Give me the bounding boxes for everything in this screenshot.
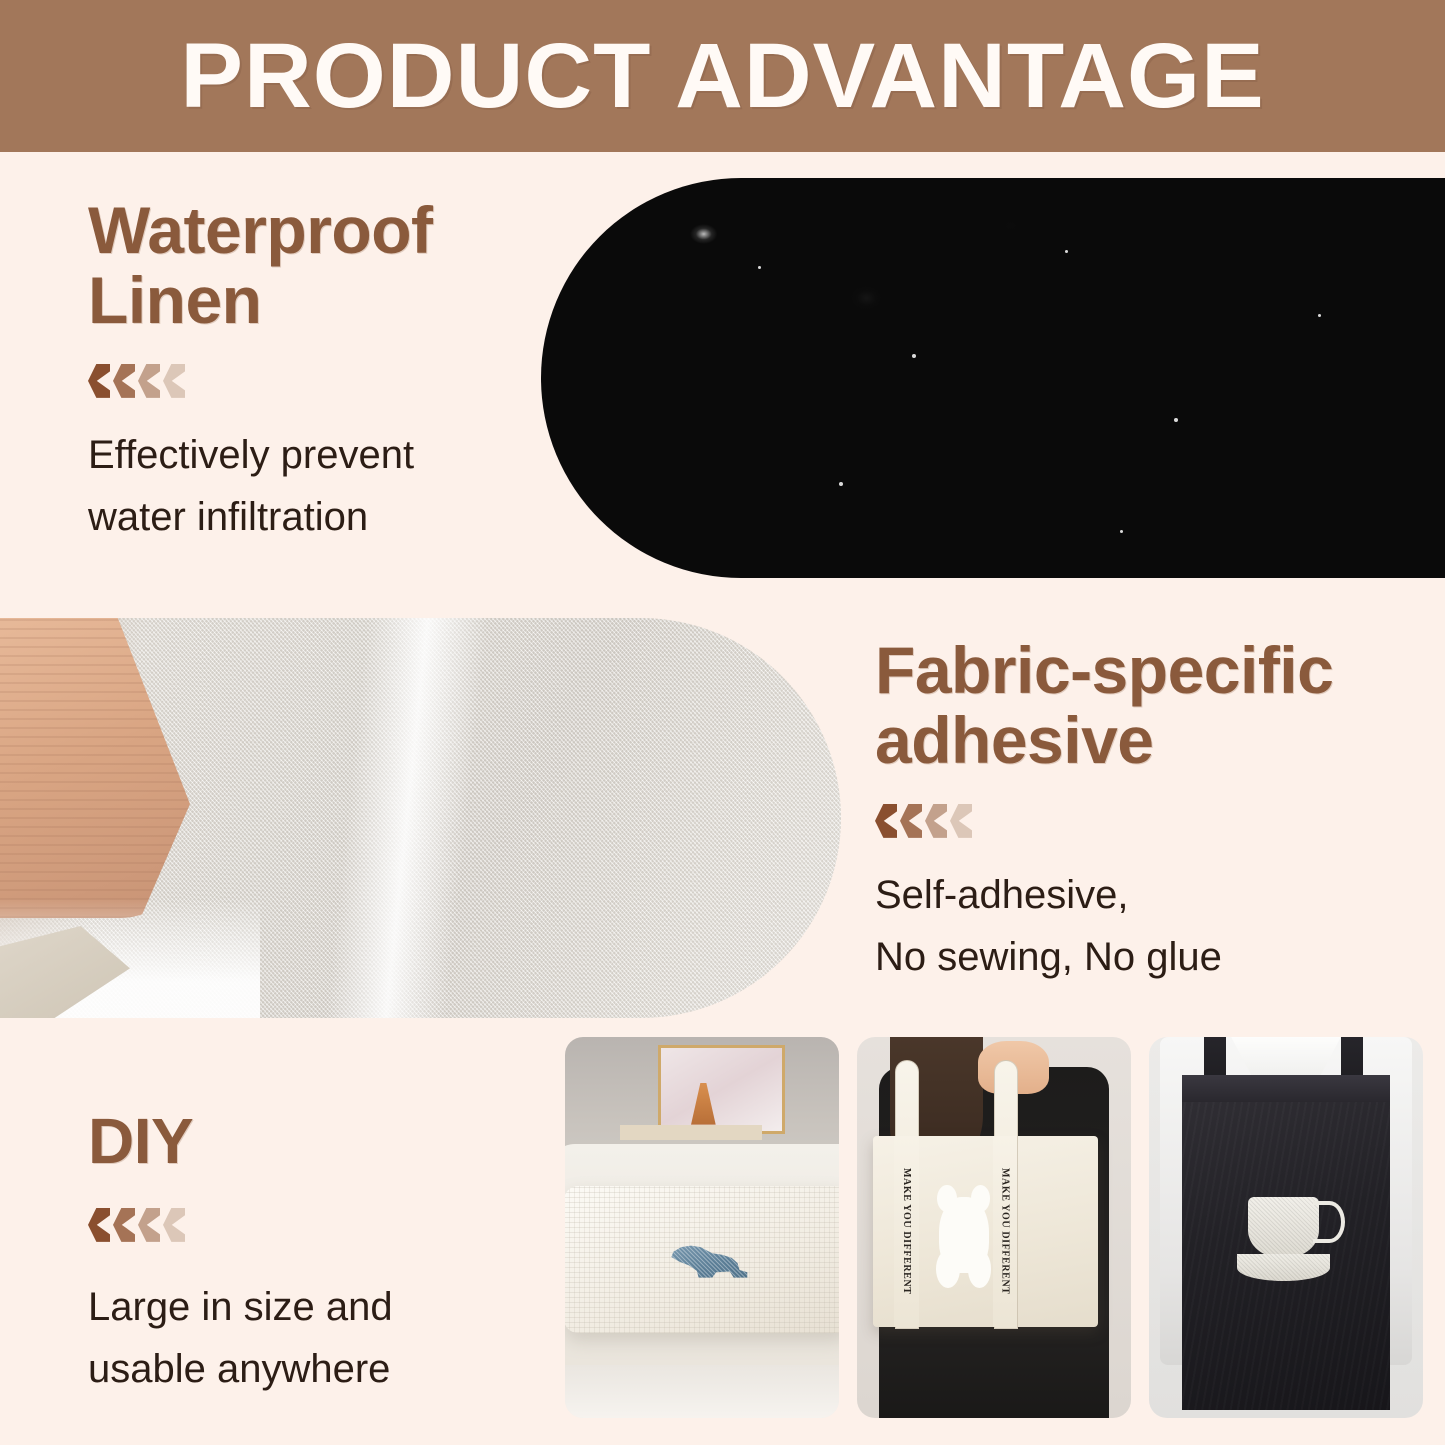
sofa — [565, 1144, 839, 1380]
adhesive-heading: Fabric-specific adhesive — [875, 636, 1435, 776]
tote-bag-with-bear-patch-photo: MAKE YOU DIFFERENT MAKE YOU DIFFERENT — [857, 1037, 1131, 1418]
diy-gallery: MAKE YOU DIFFERENT MAKE YOU DIFFERENT — [565, 1037, 1423, 1418]
chevron-left-icon — [163, 364, 185, 398]
diy-description: Large in size and usable anywhere — [88, 1276, 508, 1400]
water-sparkle — [1318, 314, 1321, 317]
chevron-left-icon — [113, 1208, 135, 1242]
chevron-left-icon — [88, 364, 110, 398]
tote-strap-text-right: MAKE YOU DIFFERENT — [993, 1136, 1018, 1327]
infographic-page: PRODUCT ADVANTAGE Waterproof Linen Effec… — [0, 0, 1445, 1445]
waterproof-text-block: Waterproof Linen Effectively prevent wat… — [88, 196, 558, 548]
saucer-patch-icon — [1237, 1254, 1330, 1281]
waterproof-description: Effectively prevent water infiltration — [88, 424, 558, 548]
chevron-left-icon — [925, 804, 947, 838]
chevron-divider — [88, 364, 558, 398]
teacup-handle-icon — [1313, 1201, 1344, 1243]
tote-strap-label: MAKE YOU DIFFERENT — [999, 1168, 1010, 1295]
chevron-left-icon — [138, 364, 160, 398]
chevron-left-icon — [163, 1208, 185, 1242]
chevron-left-icon — [875, 804, 897, 838]
chevron-left-icon — [950, 804, 972, 838]
wall-art — [658, 1045, 785, 1135]
pillow-cushion — [565, 1186, 839, 1332]
adhesive-text-block: Fabric-specific adhesive Self-adhesive, … — [875, 636, 1435, 988]
apron-with-teacup-patch-photo — [1149, 1037, 1423, 1418]
diy-text-block: DIY Large in size and usable anywhere — [88, 1108, 508, 1400]
header-banner: PRODUCT ADVANTAGE — [0, 0, 1445, 152]
water-sparkle — [613, 218, 617, 222]
diy-heading: DIY — [88, 1108, 508, 1176]
linen-fabric-photo — [0, 618, 841, 1018]
chevron-divider — [875, 804, 1435, 838]
water-sparkle — [912, 354, 916, 358]
tote-strap-text-left: MAKE YOU DIFFERENT — [894, 1136, 919, 1327]
chevron-divider — [88, 1208, 508, 1242]
tote-strap-label: MAKE YOU DIFFERENT — [901, 1168, 912, 1295]
chevron-left-icon — [113, 364, 135, 398]
water-sparkle — [1174, 418, 1178, 422]
chevron-left-icon — [900, 804, 922, 838]
water-sparkle — [1120, 530, 1123, 533]
floor — [565, 1365, 839, 1418]
teacup-patch-icon — [1248, 1197, 1319, 1258]
pillow-with-dog-patch-photo — [565, 1037, 839, 1418]
waterproof-heading: Waterproof Linen — [88, 196, 558, 336]
water-sparkle — [758, 266, 761, 269]
page-title: PRODUCT ADVANTAGE — [180, 30, 1264, 122]
water-sparkle — [839, 482, 843, 486]
chevron-left-icon — [138, 1208, 160, 1242]
bear-patch-legs — [939, 1250, 988, 1288]
dog-silhouette-patch-icon — [662, 1242, 759, 1280]
chevron-left-icon — [88, 1208, 110, 1242]
waterproof-fabric-photo — [541, 178, 1445, 578]
apron-top-hem — [1182, 1075, 1390, 1102]
adhesive-description: Self-adhesive, No sewing, No glue — [875, 864, 1435, 988]
water-sparkle — [1065, 250, 1068, 253]
console-table — [620, 1125, 762, 1140]
